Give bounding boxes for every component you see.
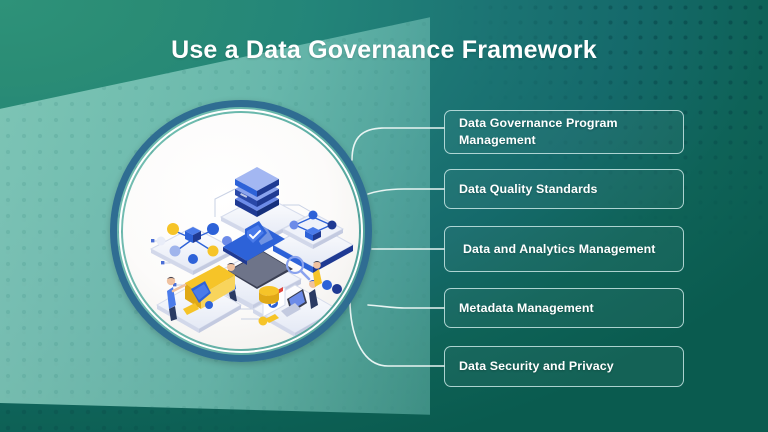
item-box-data-governance-program-management[interactable]: Data Governance Program Management <box>444 110 684 154</box>
connector-line-4 <box>368 305 444 308</box>
item-box-data-security-and-privacy[interactable]: Data Security and Privacy <box>444 346 684 387</box>
item-label: Data Governance Program Management <box>459 115 673 148</box>
slide-canvas: Use a Data Governance Framework <box>0 0 768 432</box>
item-label: Data Quality Standards <box>459 181 598 198</box>
central-circle <box>110 100 372 362</box>
item-label: Data and Analytics Management <box>463 241 655 258</box>
item-box-data-quality-standards[interactable]: Data Quality Standards <box>444 169 684 209</box>
data-folder-scene <box>157 265 241 333</box>
isometric-data-illustration <box>123 113 359 349</box>
connector-line-2 <box>368 189 444 194</box>
item-label: Metadata Management <box>459 300 594 317</box>
item-label: Data Security and Privacy <box>459 358 614 375</box>
database-icon <box>259 286 279 304</box>
item-box-metadata-management[interactable]: Metadata Management <box>444 288 684 328</box>
item-box-data-and-analytics-management[interactable]: Data and Analytics Management <box>444 226 684 272</box>
circle-face <box>123 113 359 349</box>
